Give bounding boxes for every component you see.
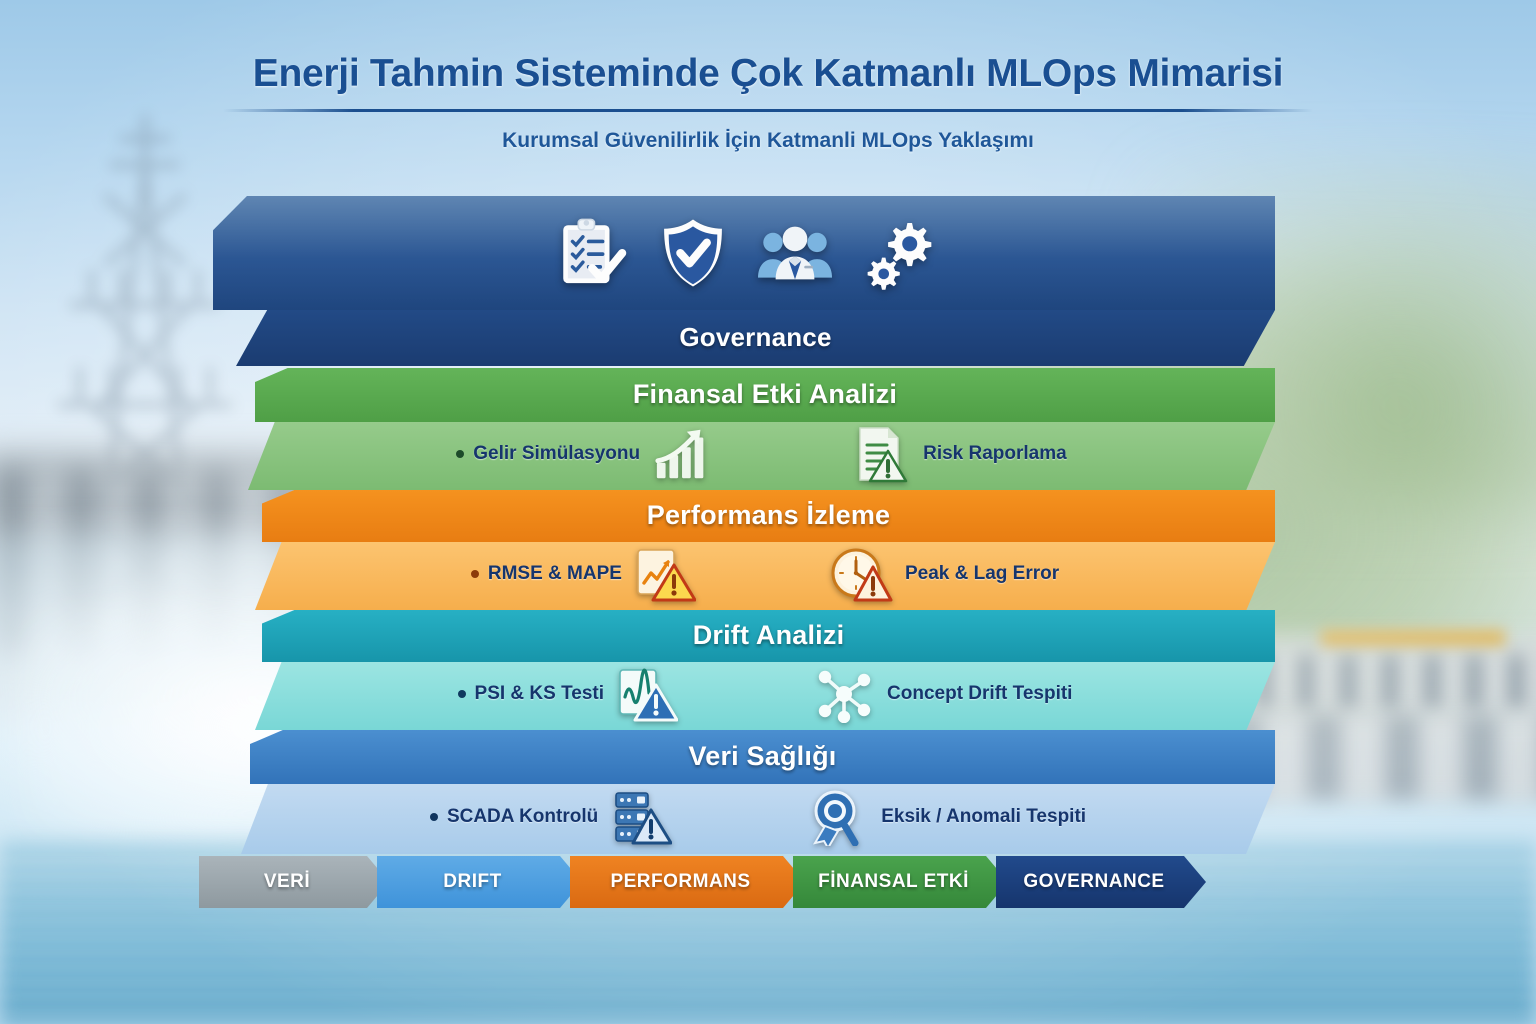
financial-item-right[interactable]: Risk Raporlama bbox=[849, 425, 1067, 483]
flow-step-performans[interactable]: PERFORMANS bbox=[570, 856, 805, 908]
team-people-icon bbox=[758, 214, 832, 292]
financial-title: Finansal Etki Analizi bbox=[255, 368, 1275, 422]
flow-step-veri[interactable]: VERİ bbox=[199, 856, 389, 908]
flow-step-governance[interactable]: GOVERNANCE bbox=[996, 856, 1206, 908]
document-warning-icon bbox=[849, 425, 911, 483]
flow-step-label: FİNANSAL ETKİ bbox=[818, 871, 983, 893]
data-title: Veri Sağlığı bbox=[250, 730, 1275, 784]
financial-items: Gelir Simülasyonu bbox=[248, 422, 1275, 490]
page-title: Enerji Tahmin Sisteminde Çok Katmanlı ML… bbox=[0, 52, 1536, 96]
drift-item-right[interactable]: Concept Drift Tespiti bbox=[813, 665, 1072, 723]
data-item-right[interactable]: Eksik / Anomali Tespiti bbox=[807, 788, 1086, 846]
drift-item-left[interactable]: PSI & KS Testi bbox=[458, 665, 679, 723]
performance-title: Performans İzleme bbox=[262, 490, 1275, 542]
drift-items: PSI & KS Testi bbox=[255, 662, 1275, 730]
flow-step-finansal-etki[interactable]: FİNANSAL ETKİ bbox=[793, 856, 1008, 908]
governance-title: Governance bbox=[236, 310, 1275, 366]
network-nodes-icon bbox=[813, 665, 875, 723]
layer-performance-body[interactable]: RMSE & MAPE bbox=[255, 542, 1275, 610]
flow-step-label: VERİ bbox=[264, 871, 324, 893]
layer-data-body[interactable]: SCADA Kontrolü bbox=[241, 784, 1275, 854]
data-right-label: Eksik / Anomali Tespiti bbox=[881, 806, 1086, 828]
data-left-label: SCADA Kontrolü bbox=[447, 806, 598, 828]
governance-icon-row bbox=[213, 196, 1275, 310]
flow-step-label: GOVERNANCE bbox=[1023, 871, 1178, 893]
page-subtitle: Kurumsal Güvenilirlik İçin Katmanli MLOp… bbox=[0, 129, 1536, 153]
data-items: SCADA Kontrolü bbox=[241, 784, 1275, 854]
server-warning-icon bbox=[610, 788, 672, 846]
growth-bar-chart-icon bbox=[652, 425, 714, 483]
drift-title: Drift Analizi bbox=[262, 610, 1275, 662]
layer-data-head[interactable]: Veri Sağlığı bbox=[250, 730, 1275, 784]
financial-item-left[interactable]: Gelir Simülasyonu bbox=[456, 425, 714, 483]
bullet-icon bbox=[430, 813, 438, 821]
bullet-icon bbox=[456, 450, 464, 458]
shield-check-icon bbox=[656, 214, 730, 292]
drift-right-label: Concept Drift Tespiti bbox=[887, 683, 1072, 705]
layer-financial-body[interactable]: Gelir Simülasyonu bbox=[248, 422, 1275, 490]
title-divider bbox=[223, 109, 1313, 112]
drift-left-label: PSI & KS Testi bbox=[475, 683, 605, 705]
clock-warning-icon bbox=[831, 545, 893, 603]
performance-right-label: Peak & Lag Error bbox=[905, 563, 1059, 585]
financial-right-label: Risk Raporlama bbox=[923, 443, 1067, 465]
layer-governance-label[interactable]: Governance bbox=[236, 310, 1275, 366]
performance-item-right[interactable]: Peak & Lag Error bbox=[831, 545, 1059, 603]
flow-step-drift[interactable]: DRIFT bbox=[377, 856, 582, 908]
performance-item-left[interactable]: RMSE & MAPE bbox=[471, 545, 696, 603]
layer-performance-head[interactable]: Performans İzleme bbox=[262, 490, 1275, 542]
bullet-icon bbox=[458, 690, 466, 698]
bullet-icon bbox=[471, 570, 479, 578]
mlops-layer-stack: Governance Finansal Etki Analizi Gelir S… bbox=[0, 196, 1536, 856]
header: Enerji Tahmin Sisteminde Çok Katmanlı ML… bbox=[0, 52, 1536, 153]
layer-drift-body[interactable]: PSI & KS Testi bbox=[255, 662, 1275, 730]
signal-warning-icon bbox=[616, 665, 678, 723]
layer-financial-head[interactable]: Finansal Etki Analizi bbox=[255, 368, 1275, 422]
chart-warning-icon bbox=[634, 545, 696, 603]
layer-drift-head[interactable]: Drift Analizi bbox=[262, 610, 1275, 662]
financial-left-label: Gelir Simülasyonu bbox=[473, 443, 640, 465]
clipboard-checklist-icon bbox=[554, 214, 628, 292]
layer-governance-icons[interactable] bbox=[213, 196, 1275, 310]
gears-icon bbox=[860, 214, 934, 292]
magnifier-icon bbox=[807, 788, 869, 846]
flow-step-label: PERFORMANS bbox=[610, 871, 764, 893]
performance-items: RMSE & MAPE bbox=[255, 542, 1275, 610]
data-item-left[interactable]: SCADA Kontrolü bbox=[430, 788, 672, 846]
performance-left-label: RMSE & MAPE bbox=[488, 563, 622, 585]
process-flow-breadcrumb: VERİ DRIFT PERFORMANS FİNANSAL ETKİ GOVE… bbox=[199, 856, 1194, 908]
flow-step-label: DRIFT bbox=[443, 871, 515, 893]
